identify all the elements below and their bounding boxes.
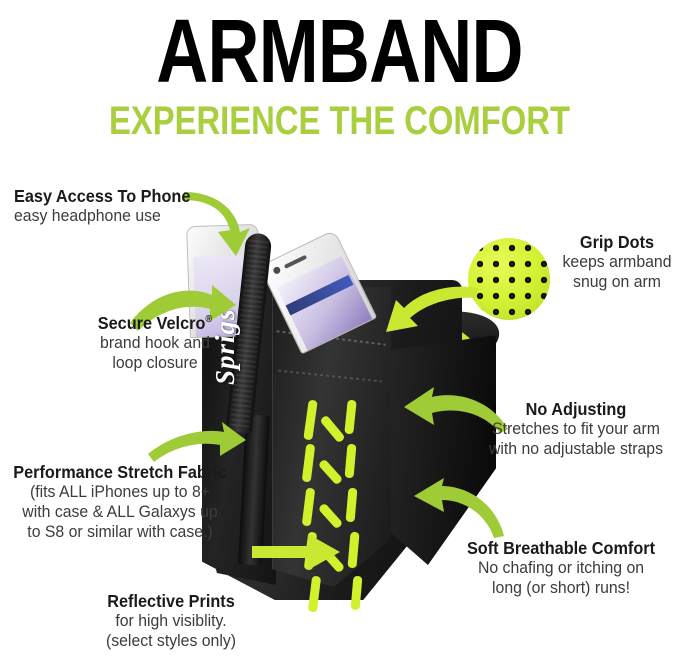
- header: ARMBAND EXPERIENCE THE COMFORT: [0, 0, 679, 142]
- callout-line: with no adjustable straps: [481, 439, 671, 459]
- arrow-reflective-prints: [252, 530, 342, 574]
- infographic-canvas: ARMBAND EXPERIENCE THE COMFORT Sprigs: [0, 0, 679, 664]
- callout-line: long (or short) runs!: [452, 578, 670, 598]
- callout-title: Performance Stretch Fabric: [10, 462, 229, 482]
- callout-title: Reflective Prints: [83, 591, 260, 611]
- arrow-soft-breathable: [398, 478, 508, 540]
- callout-title: Grip Dots: [560, 232, 673, 252]
- callout-line: keeps armband: [560, 252, 673, 272]
- callout-title: Easy Access To Phone: [14, 186, 190, 206]
- arrow-performance-fabric: [148, 420, 248, 466]
- callout-line: (select styles only): [83, 631, 260, 651]
- callout-title: Secure Velcro®: [67, 310, 244, 333]
- arrow-grip-dots: [384, 282, 480, 340]
- callout-line: with case & ALL Galaxys up: [10, 502, 229, 522]
- grip-dots-swatch: [468, 238, 550, 320]
- callout-soft-breathable-comfort: Soft Breathable Comfort No chafing or it…: [444, 538, 678, 598]
- callout-performance-stretch-fabric: Performance Stretch Fabric (fits ALL iPh…: [2, 462, 238, 542]
- callout-title: Soft Breathable Comfort: [452, 538, 670, 558]
- registered-trademark-icon: ®: [205, 314, 212, 325]
- callout-line: to S8 or similar with case.): [10, 522, 229, 542]
- callout-line: No chafing or itching on: [452, 558, 670, 578]
- callout-line: Stretches to fit your arm: [481, 419, 671, 439]
- callout-line: brand hook and: [67, 333, 244, 353]
- callout-secure-velcro: Secure Velcro® brand hook and loop closu…: [60, 310, 250, 373]
- callout-line: easy headphone use: [14, 206, 190, 226]
- callout-easy-access: Easy Access To Phone easy headphone use: [14, 186, 204, 226]
- callout-line: (fits ALL iPhones up to 8+: [10, 482, 229, 502]
- page-title: ARMBAND: [68, 6, 611, 98]
- callout-reflective-prints: Reflective Prints for high visiblity. (s…: [76, 591, 266, 651]
- callout-no-adjusting: No Adjusting Stretches to fit your arm w…: [474, 399, 678, 459]
- callout-line: snug on arm: [560, 272, 673, 292]
- callout-line: for high visiblity.: [83, 611, 260, 631]
- callout-title: No Adjusting: [481, 399, 671, 419]
- page-subtitle: EXPERIENCE THE COMFORT: [61, 100, 618, 142]
- callout-grip-dots: Grip Dots keeps armband snug on arm: [556, 232, 678, 292]
- callout-line: loop closure: [67, 353, 244, 373]
